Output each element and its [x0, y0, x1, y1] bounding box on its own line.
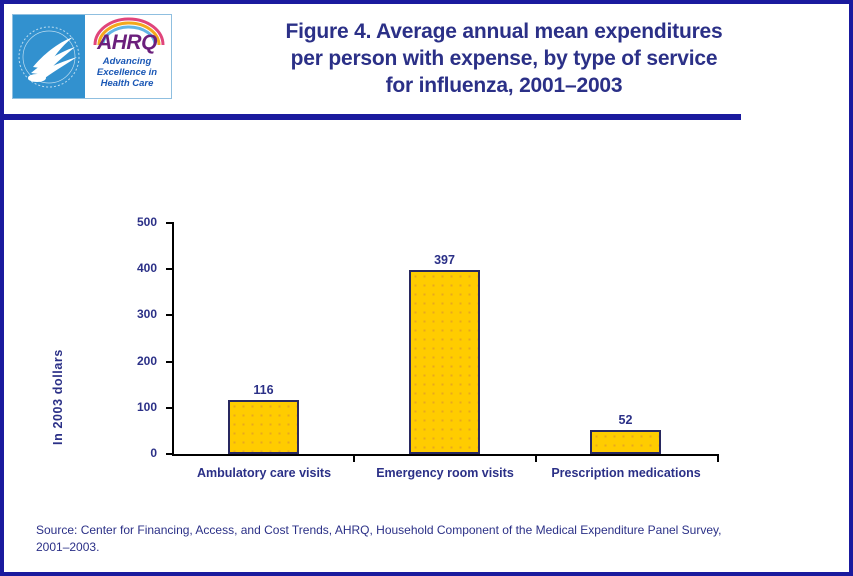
bar-chart: In 2003 dollars 0 100 200 300 400 500	[4, 120, 849, 510]
x-label-prescription-medications: Prescription medications	[551, 466, 700, 480]
y-tick-0: 0	[166, 453, 172, 455]
figure-title-line-2: per person with expense, by type of serv…	[184, 45, 824, 72]
x-label-emergency-room-visits: Emergency room visits	[376, 466, 514, 480]
y-tick-label-0: 0	[150, 446, 157, 460]
ahrq-tagline-3: Health Care	[85, 78, 169, 89]
y-tick-500: 500	[166, 222, 172, 224]
x-label-ambulatory-care-visits: Ambulatory care visits	[197, 466, 331, 480]
figure-title-line-3: for influenza, 2001–2003	[184, 72, 824, 99]
y-axis-line	[172, 222, 174, 455]
hhs-seal-icon	[13, 15, 85, 98]
y-tick-label-200: 200	[137, 354, 157, 368]
ahrq-wordmark: AHRQ Advancing Excellence in Health Care	[85, 15, 171, 98]
ahrq-letters: AHRQ	[85, 31, 169, 55]
bar-value-ambulatory-care-visits: 116	[253, 383, 273, 397]
x-tick-end	[717, 454, 719, 462]
source-note: Source: Center for Financing, Access, an…	[36, 522, 816, 556]
source-line-2: 2001–2003.	[36, 539, 816, 556]
x-axis-line	[172, 454, 719, 456]
bar-ambulatory-care-visits[interactable]: 116	[228, 400, 299, 454]
y-axis-title: In 2003 dollars	[51, 327, 65, 467]
figure-title: Figure 4. Average annual mean expenditur…	[184, 18, 824, 99]
y-tick-200: 200	[166, 361, 172, 363]
y-tick-label-300: 300	[137, 307, 157, 321]
x-tick-sep-2	[535, 454, 537, 462]
bar-value-prescription-medications: 52	[619, 413, 633, 427]
hhs-seal-graphic	[13, 15, 85, 98]
x-tick-sep-1	[353, 454, 355, 462]
y-tick-400: 400	[166, 268, 172, 270]
source-line-1: Source: Center for Financing, Access, an…	[36, 522, 816, 539]
ahrq-tagline-1: Advancing	[85, 56, 169, 67]
bar-emergency-room-visits[interactable]: 397	[409, 270, 480, 454]
y-tick-100: 100	[166, 407, 172, 409]
ahrq-tagline-2: Excellence in	[85, 67, 169, 78]
figure-header: AHRQ Advancing Excellence in Health Care…	[4, 4, 849, 108]
figure-page: AHRQ Advancing Excellence in Health Care…	[0, 0, 853, 576]
bar-value-emergency-room-visits: 397	[434, 253, 455, 267]
y-tick-label-100: 100	[137, 400, 157, 414]
y-tick-300: 300	[166, 314, 172, 316]
bar-prescription-medications[interactable]: 52	[590, 430, 661, 454]
y-tick-label-400: 400	[137, 261, 157, 275]
ahrq-hhs-logo: AHRQ Advancing Excellence in Health Care	[12, 14, 172, 99]
plot-area: 0 100 200 300 400 500 116	[172, 222, 719, 454]
figure-title-line-1: Figure 4. Average annual mean expenditur…	[184, 18, 824, 45]
y-tick-label-500: 500	[137, 215, 157, 229]
